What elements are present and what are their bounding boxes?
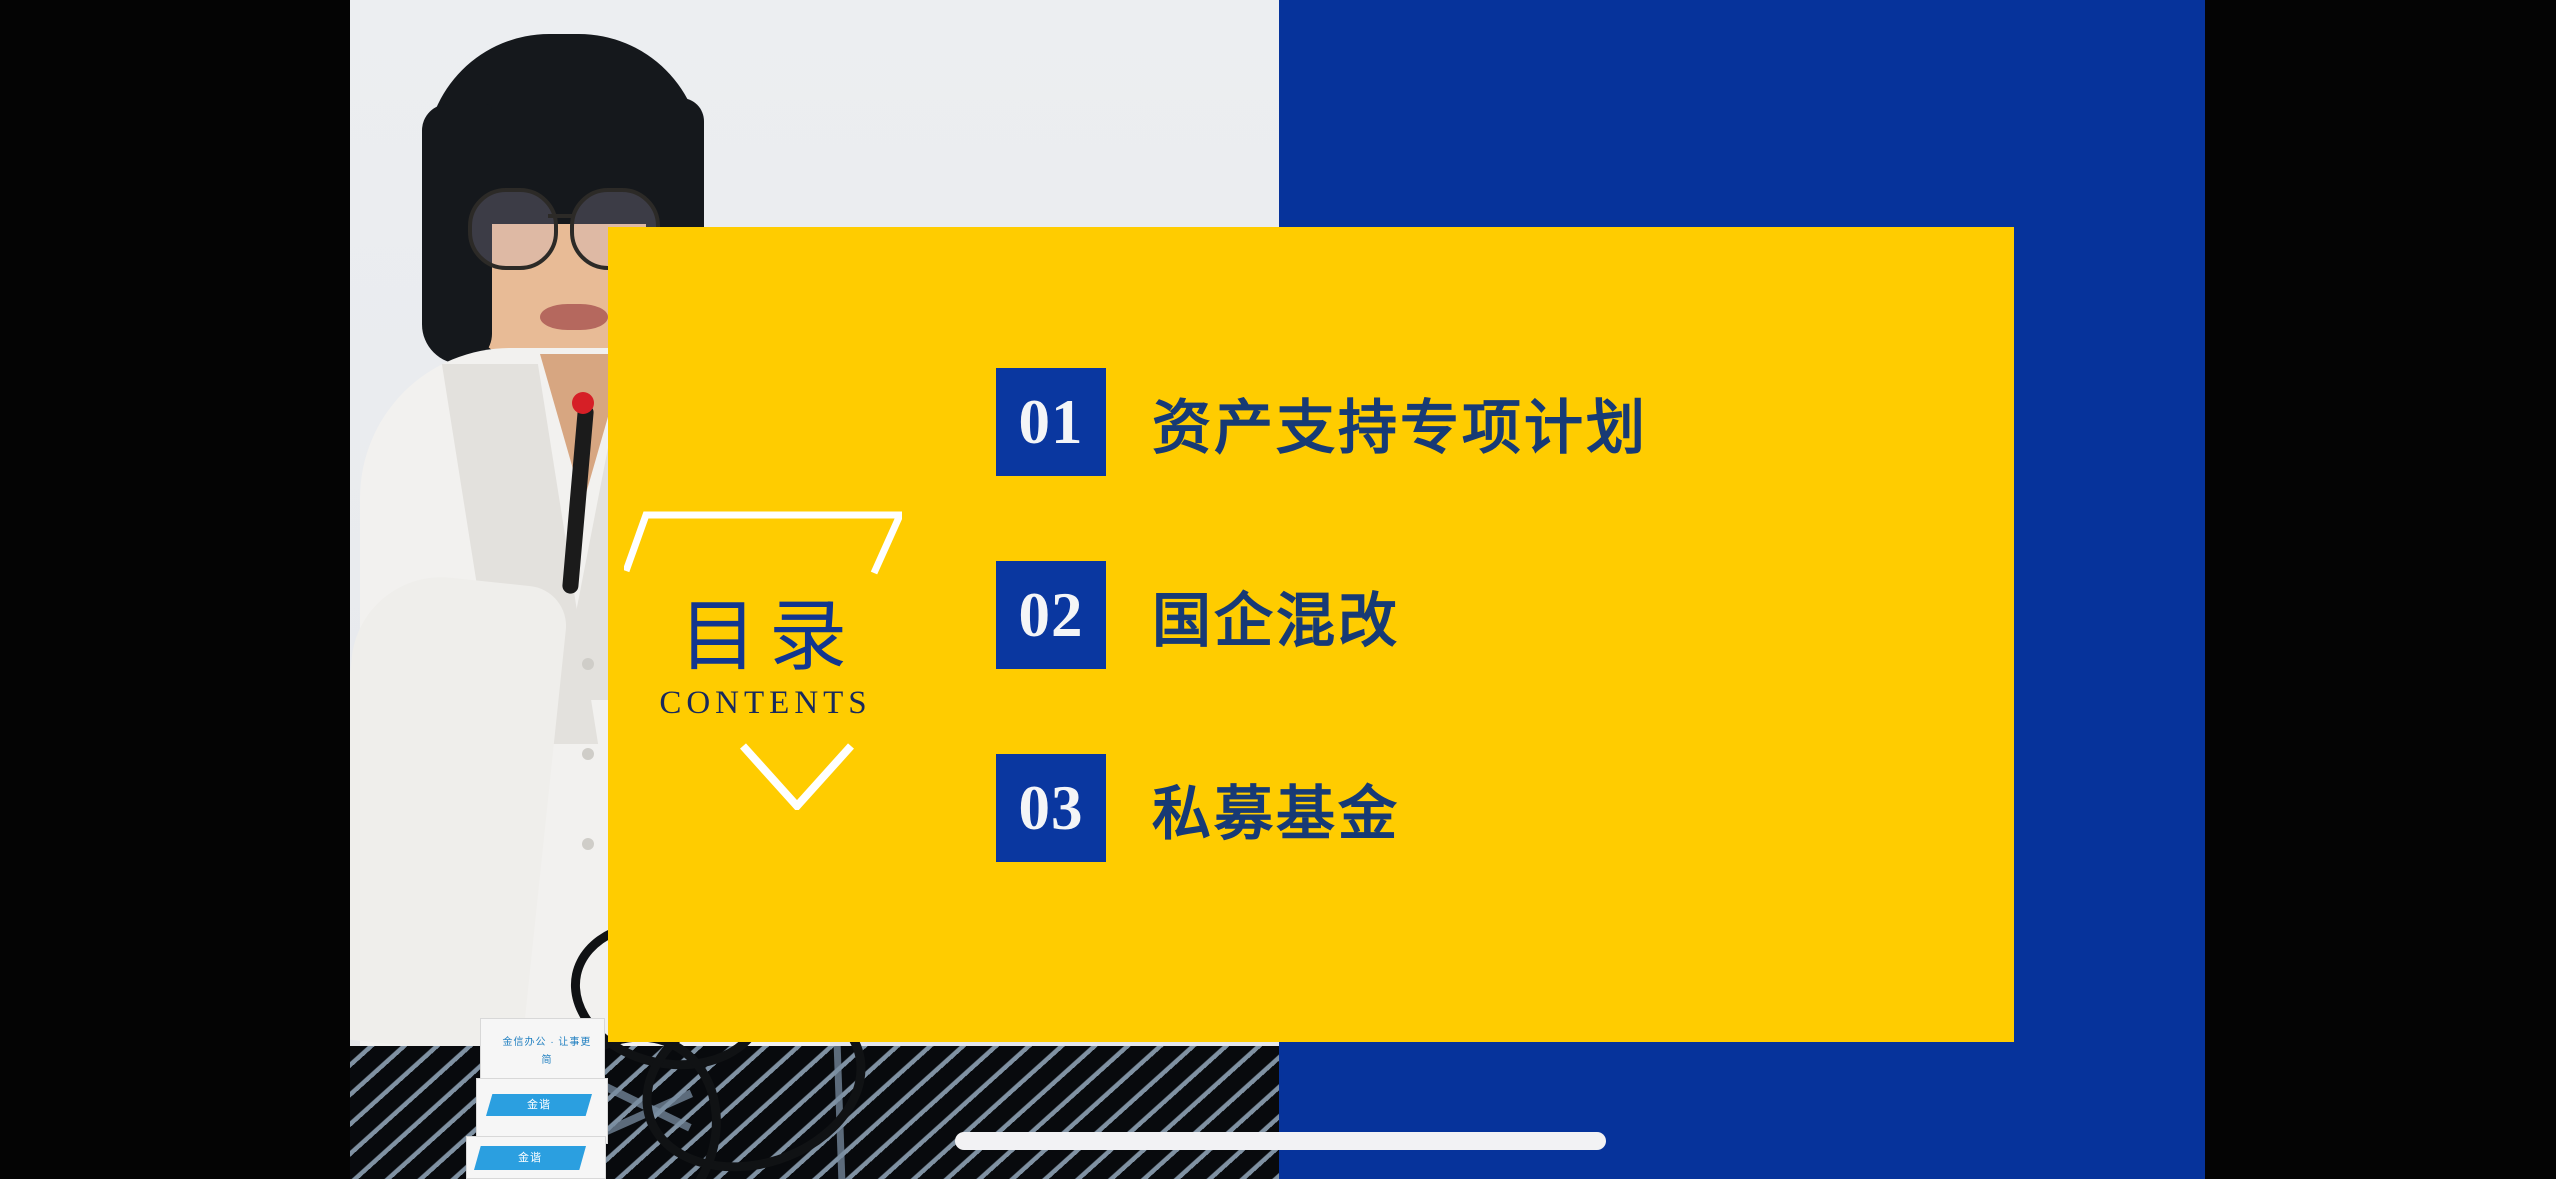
speaker-glasses-bridge bbox=[548, 214, 574, 218]
toc-number-badge: 02 bbox=[996, 561, 1106, 669]
contents-heading: 目录 CONTENTS bbox=[626, 597, 900, 722]
box-logo-text: 金信办公 · 让事更简 bbox=[502, 1034, 592, 1052]
toc-item-03[interactable]: 03 私募基金 bbox=[996, 754, 1648, 862]
product-box: 金谐 bbox=[476, 1078, 608, 1144]
contents-panel: 目录 CONTENTS 01 资产支持专项计划 02 国企混改 03 bbox=[608, 227, 2014, 1042]
toc-number-badge: 03 bbox=[996, 754, 1106, 862]
microphone-led-icon bbox=[572, 392, 594, 414]
jacket-button-1 bbox=[582, 658, 594, 670]
box-logo-text: 金谐 bbox=[474, 1146, 586, 1170]
contents-heading-en: CONTENTS bbox=[626, 685, 900, 722]
decorative-trapezoid-icon bbox=[624, 509, 902, 577]
speaker-glasses-left-lens bbox=[468, 188, 558, 270]
toc-item-label: 私募基金 bbox=[1152, 766, 1400, 851]
speaker-mouth bbox=[540, 304, 608, 330]
contents-heading-cn: 目录 bbox=[626, 597, 900, 677]
toc-item-label: 资产支持专项计划 bbox=[1152, 380, 1648, 465]
toc-item-label: 国企混改 bbox=[1152, 573, 1400, 658]
toc-number-badge: 01 bbox=[996, 368, 1106, 476]
toc-list: 01 资产支持专项计划 02 国企混改 03 私募基金 bbox=[996, 368, 1648, 862]
jacket-button-3 bbox=[582, 838, 594, 850]
letterbox-right bbox=[2205, 0, 2556, 1179]
box-logo-text: 金谐 bbox=[486, 1094, 592, 1116]
product-box: 金谐 bbox=[466, 1136, 606, 1179]
slide-canvas: 金信办公 · 让事更简 金谐 金谐 目录 CONTENTS bbox=[350, 0, 2205, 1179]
screen: 金信办公 · 让事更简 金谐 金谐 目录 CONTENTS bbox=[0, 0, 2556, 1179]
toc-item-02[interactable]: 02 国企混改 bbox=[996, 561, 1648, 669]
video-progress-bar[interactable] bbox=[955, 1132, 1606, 1150]
decorative-chevron-down-icon bbox=[737, 742, 857, 810]
jacket-button-2 bbox=[582, 748, 594, 760]
letterbox-left bbox=[0, 0, 350, 1179]
toc-item-01[interactable]: 01 资产支持专项计划 bbox=[996, 368, 1648, 476]
